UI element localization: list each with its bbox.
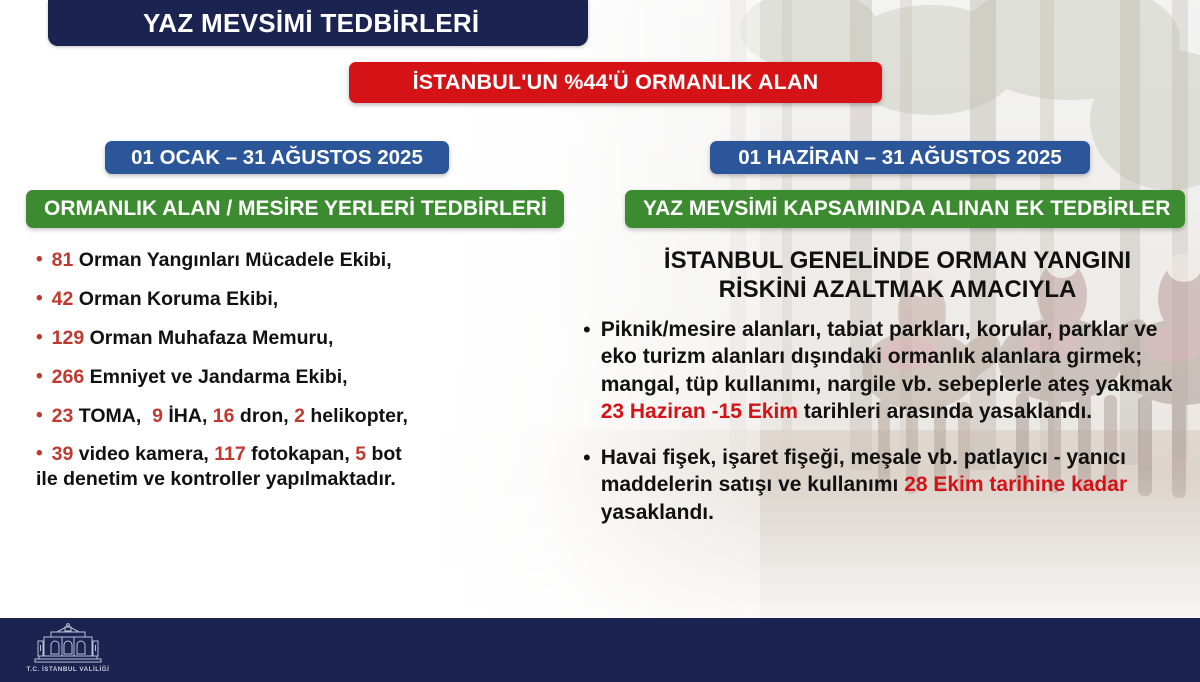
ban-fireworks-dates: 28 Ekim tarihine kadar — [904, 473, 1127, 496]
poster-root: YAZ MEVSİMİ TEDBİRLERİ İSTANBUL'UN %44'Ü… — [0, 0, 1200, 682]
ban-fire-part-2: tarihleri arasında yasaklandı. — [798, 400, 1092, 423]
list-item-ban-fire: • Piknik/mesire alanları, tabiat parklar… — [583, 316, 1183, 425]
bullet-icon: • — [36, 287, 43, 311]
helicopter-label: helikopter, — [310, 405, 408, 427]
forest-coverage-banner-text: İSTANBUL'UN %44'Ü ORMANLIK ALAN — [413, 70, 819, 95]
list-item-ban-fireworks: • Havai fişek, işaret fişeği, meşale vb.… — [583, 444, 1183, 526]
bullet-icon: • — [583, 444, 591, 472]
item-count: 266 — [52, 366, 85, 388]
bullet-icon: • — [36, 326, 43, 350]
item-label: Orman Yangınları Mücadele Ekibi, — [79, 249, 392, 271]
left-date-badge-text: 01 OCAK – 31 AĞUSTOS 2025 — [131, 146, 423, 170]
right-heading: İSTANBUL GENELİNDE ORMAN YANGINI RİSKİNİ… — [625, 246, 1170, 305]
list-item-devices: • 39 video kamera, 117 fotokapan, 5 bot — [36, 442, 556, 466]
drone-count: 16 — [213, 405, 235, 427]
iha-count: 9 — [152, 405, 163, 427]
item-count: 81 — [52, 249, 74, 271]
item-label: Orman Muhafaza Memuru, — [90, 327, 334, 349]
boat-count: 5 — [355, 443, 366, 465]
fotokapan-count: 117 — [214, 443, 245, 465]
item-label: Orman Koruma Ekibi, — [79, 288, 278, 310]
drone-label: dron, — [240, 405, 294, 427]
page-title-bar: YAZ MEVSİMİ TEDBİRLERİ — [48, 0, 588, 46]
list-item-vehicles: • 23 TOMA, 9 İHA, 16 dron, 2 helikopter, — [36, 404, 556, 428]
devices-tail-text: ile denetim ve kontroller yapılmaktadır. — [36, 467, 556, 491]
item-label: Emniyet ve Jandarma Ekibi, — [90, 366, 348, 388]
list-item: • 129 Orman Muhafaza Memuru, — [36, 326, 556, 350]
item-count: 129 — [52, 327, 85, 349]
ban-fire-part-1: Piknik/mesire alanları, tabiat parkları,… — [601, 318, 1173, 396]
right-measures-list: • Piknik/mesire alanları, tabiat parklar… — [583, 316, 1183, 545]
helicopter-count: 2 — [294, 405, 305, 427]
governorship-logo-text: T.C. İSTANBUL VALİLİĞİ — [27, 666, 110, 673]
right-section-banner: YAZ MEVSİMİ KAPSAMINDA ALINAN EK TEDBİRL… — [625, 190, 1185, 228]
left-date-badge: 01 OCAK – 31 AĞUSTOS 2025 — [105, 141, 449, 174]
bullet-icon: • — [36, 248, 43, 272]
bullet-icon: • — [36, 365, 43, 389]
left-section-banner: ORMANLIK ALAN / MESİRE YERLERİ TEDBİRLER… — [26, 190, 564, 228]
governorship-logo: T.C. İSTANBUL VALİLİĞİ — [22, 623, 114, 677]
footer-bar — [0, 618, 1200, 682]
left-measures-list: • 81 Orman Yangınları Mücadele Ekibi, • … — [36, 248, 556, 491]
right-heading-line-2: RİSKİNİ AZALTMAK AMACIYLA — [625, 275, 1170, 304]
bullet-icon: • — [36, 442, 43, 466]
ban-fireworks-text: Havai fişek, işaret fişeği, meşale vb. p… — [601, 444, 1183, 526]
list-item: • 81 Orman Yangınları Mücadele Ekibi, — [36, 248, 556, 272]
toma-label: TOMA, — [79, 405, 147, 427]
iha-label: İHA, — [168, 405, 212, 427]
list-item: • 42 Orman Koruma Ekibi, — [36, 287, 556, 311]
ban-fire-text: Piknik/mesire alanları, tabiat parkları,… — [601, 316, 1183, 425]
boat-label: bot — [371, 443, 401, 465]
forest-coverage-banner: İSTANBUL'UN %44'Ü ORMANLIK ALAN — [349, 62, 882, 103]
bullet-icon: • — [36, 404, 43, 428]
toma-count: 23 — [52, 405, 74, 427]
right-section-banner-text: YAZ MEVSİMİ KAPSAMINDA ALINAN EK TEDBİRL… — [625, 197, 1170, 221]
bullet-icon: • — [583, 316, 591, 344]
camera-label: video kamera, — [79, 443, 215, 465]
camera-count: 39 — [52, 443, 74, 465]
page-title: YAZ MEVSİMİ TEDBİRLERİ — [48, 8, 479, 39]
government-building-icon — [29, 623, 107, 665]
ban-fire-dates: 23 Haziran -15 Ekim — [601, 400, 798, 423]
fotokapan-label: fotokapan, — [251, 443, 355, 465]
right-date-badge-text: 01 HAZİRAN – 31 AĞUSTOS 2025 — [738, 146, 1062, 170]
item-count: 42 — [52, 288, 74, 310]
list-item: • 266 Emniyet ve Jandarma Ekibi, — [36, 365, 556, 389]
right-date-badge: 01 HAZİRAN – 31 AĞUSTOS 2025 — [710, 141, 1090, 174]
ban-fireworks-part-2: yasaklandı. — [601, 501, 714, 524]
right-heading-line-1: İSTANBUL GENELİNDE ORMAN YANGINI — [625, 246, 1170, 275]
left-section-banner-text: ORMANLIK ALAN / MESİRE YERLERİ TEDBİRLER… — [26, 197, 547, 221]
